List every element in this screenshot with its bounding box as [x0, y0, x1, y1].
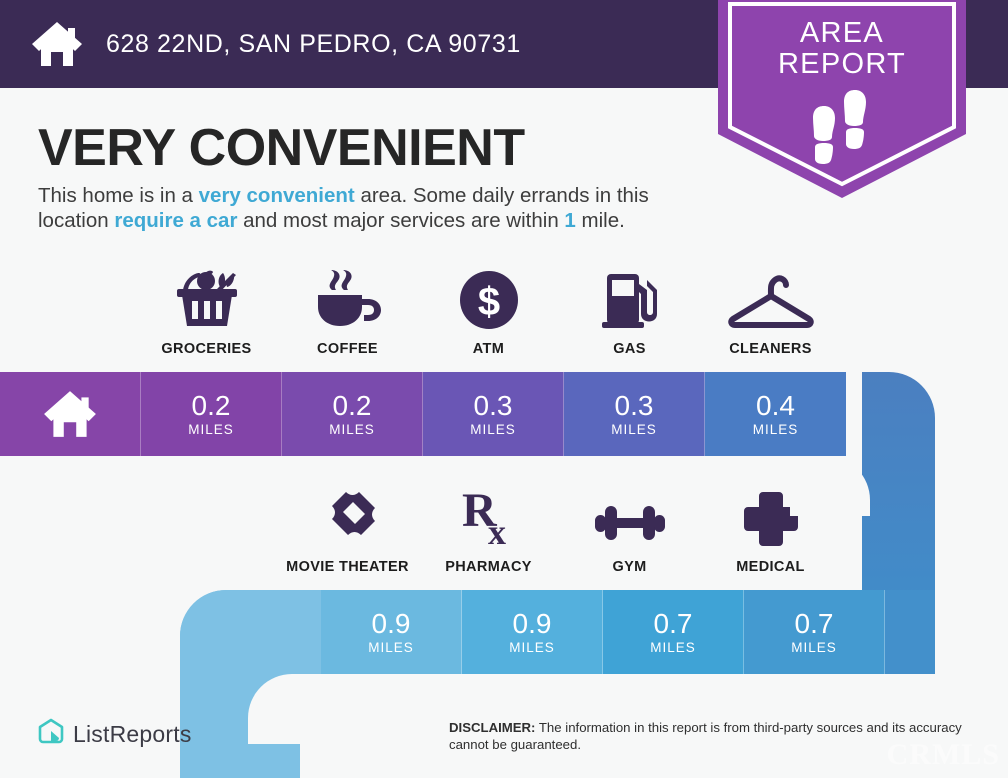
amenity-label: CLEANERS [729, 341, 812, 357]
distance-value: 0.7 [795, 609, 834, 639]
home-icon [30, 20, 84, 68]
distance-unit: MILES [470, 422, 516, 437]
distance-unit: MILES [650, 640, 696, 655]
desc-text-1: This home is in a [38, 184, 199, 207]
distance-cell-medical: 0.7 MILES [744, 590, 885, 674]
distance-value: 0.3 [474, 391, 513, 421]
amenity-label: GAS [613, 341, 645, 357]
amenity-groceries: GROCERIES [136, 268, 277, 357]
amenity-label: COFFEE [317, 341, 378, 357]
dumbbell-icon [587, 486, 673, 548]
distance-cell-gas: 0.3 MILES [564, 372, 705, 456]
listreports-brand[interactable]: ListReports [38, 718, 192, 751]
distance-value: 0.2 [192, 391, 231, 421]
distance-value: 0.7 [654, 609, 693, 639]
distance-cell-cleaners: 0.4 MILES [705, 372, 846, 456]
desc-text-3: and most major services are within [237, 209, 564, 232]
amenity-gym: GYM [559, 486, 700, 575]
amenity-label: PHARMACY [445, 559, 532, 575]
amenity-label: MEDICAL [736, 559, 805, 575]
hanger-icon [725, 268, 817, 330]
amenity-icons-row-1: GROCERIES COFFEE $ [136, 268, 841, 357]
badge-line-1: AREA [718, 18, 966, 49]
bar-row-2-tail [885, 590, 935, 674]
amenity-label: GROCERIES [161, 341, 251, 357]
distance-value: 0.4 [756, 391, 795, 421]
coffee-cup-icon [312, 268, 384, 330]
distance-bar-row-1: 0.2 MILES 0.2 MILES 0.3 MILES 0.3 MILES … [0, 372, 935, 456]
distance-value: 0.9 [513, 609, 552, 639]
bar-notch-right [790, 456, 870, 516]
listreports-logo-icon [38, 718, 64, 751]
amenity-movie-theater: MOVIE THEATER [277, 486, 418, 575]
amenity-label: MOVIE THEATER [286, 559, 409, 575]
distance-unit: MILES [611, 422, 657, 437]
badge-text: AREA REPORT [718, 18, 966, 80]
page-title: VERY CONVENIENT [38, 119, 525, 177]
distance-unit: MILES [368, 640, 414, 655]
distance-unit: MILES [753, 422, 799, 437]
amenity-icons-row-2: MOVIE THEATER R x PHARMACY [277, 486, 841, 575]
distance-unit: MILES [329, 422, 375, 437]
distance-unit: MILES [188, 422, 234, 437]
amenity-label: ATM [473, 341, 504, 357]
rx-icon: R x [458, 486, 520, 548]
distance-value: 0.3 [615, 391, 654, 421]
amenity-cleaners: CLEANERS [700, 268, 841, 357]
disclaimer-label: DISCLAIMER: [449, 720, 535, 735]
svg-text:$: $ [477, 280, 499, 324]
amenity-atm: $ ATM [418, 268, 559, 357]
dollar-circle-icon: $ [459, 268, 519, 330]
property-address: 628 22ND, SAN PEDRO, CA 90731 [106, 30, 521, 59]
bar-row-2-lead-in [180, 590, 321, 674]
distance-cell-coffee: 0.2 MILES [282, 372, 423, 456]
brand-name: ListReports [73, 721, 192, 748]
distance-value: 0.9 [372, 609, 411, 639]
desc-text-4: mile. [576, 209, 625, 232]
svg-text:x: x [488, 512, 506, 548]
home-marker-cell [0, 372, 141, 456]
distance-cell-gym: 0.7 MILES [603, 590, 744, 674]
distance-unit: MILES [509, 640, 555, 655]
area-report-badge: AREA REPORT [718, 0, 966, 198]
amenity-coffee: COFFEE [277, 268, 418, 357]
distance-cell-atm: 0.3 MILES [423, 372, 564, 456]
distance-cell-pharmacy: 0.9 MILES [462, 590, 603, 674]
desc-highlight-3: 1 [564, 209, 575, 232]
gas-pump-icon [599, 268, 661, 330]
distance-bar-row-2: 0.9 MILES 0.9 MILES 0.7 MILES 0.7 MILES [180, 590, 935, 674]
watermark: CRMLS [887, 738, 1000, 772]
distance-cells-row-1: 0.2 MILES 0.2 MILES 0.3 MILES 0.3 MILES … [0, 372, 846, 456]
amenity-gas: GAS [559, 268, 700, 357]
movie-ticket-icon [315, 486, 381, 548]
summary-description: This home is in a very convenient area. … [38, 183, 718, 233]
header-content: 628 22ND, SAN PEDRO, CA 90731 [30, 0, 521, 88]
distance-cell-movie-theater: 0.9 MILES [321, 590, 462, 674]
home-icon [42, 389, 98, 439]
desc-highlight-2: require a car [114, 209, 237, 232]
desc-highlight-1: very convenient [199, 184, 355, 207]
amenity-label: GYM [612, 559, 646, 575]
grocery-basket-icon [169, 268, 245, 330]
distance-unit: MILES [791, 640, 837, 655]
amenity-pharmacy: R x PHARMACY [418, 486, 559, 575]
distance-value: 0.2 [333, 391, 372, 421]
badge-line-2: REPORT [718, 49, 966, 80]
distance-cell-groceries: 0.2 MILES [141, 372, 282, 456]
area-report-infographic: 628 22ND, SAN PEDRO, CA 90731 AREA REPOR… [0, 0, 1008, 778]
distance-cells-row-2: 0.9 MILES 0.9 MILES 0.7 MILES 0.7 MILES [180, 590, 935, 674]
